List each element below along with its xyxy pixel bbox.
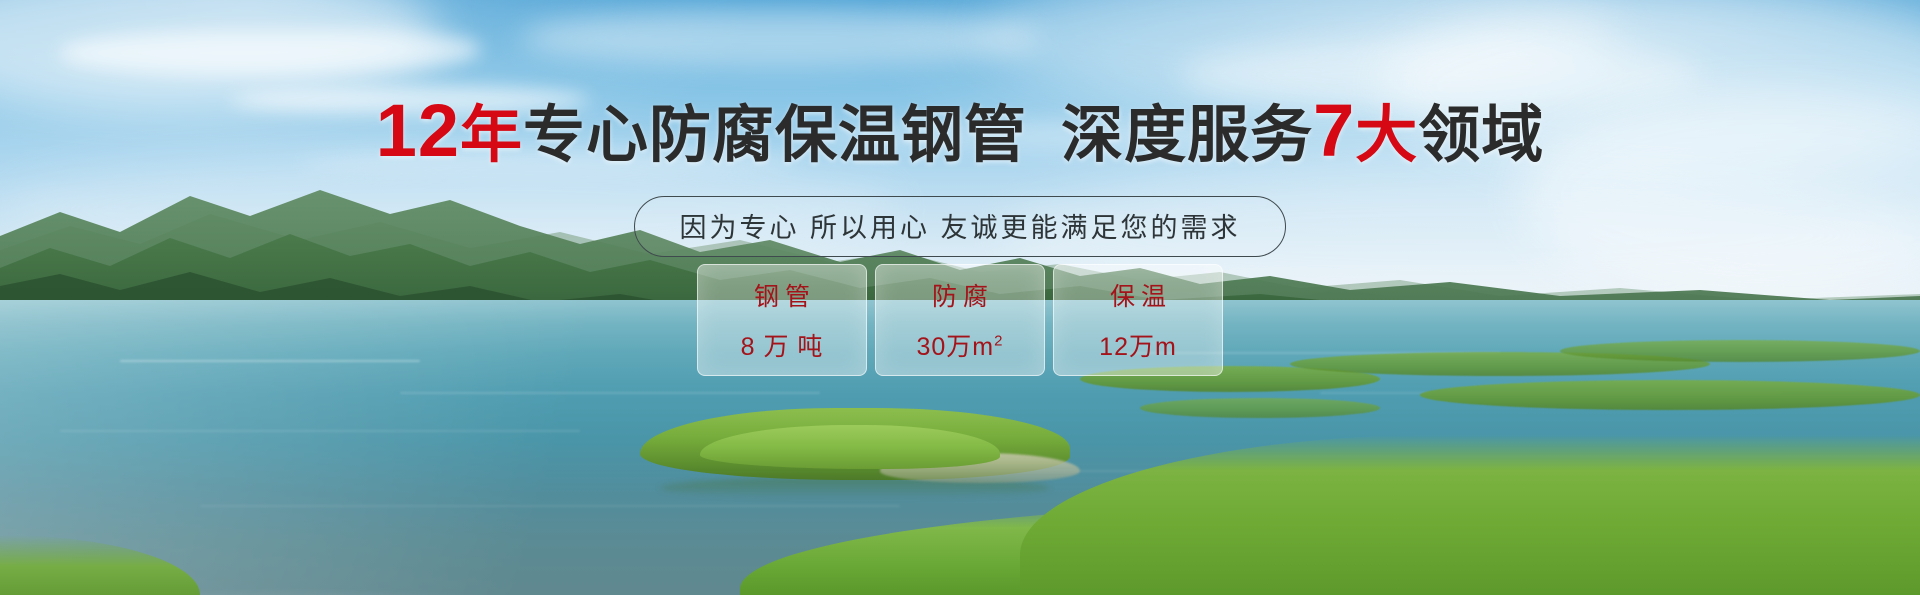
stat-card-label: 防腐 [926, 277, 994, 313]
stat-value-text: 8 万 吨 [741, 333, 824, 361]
headline-service-text: 深度服务 [1061, 101, 1313, 170]
headline-years-unit: 年 [460, 101, 523, 170]
subtitle-pill: 因为专心 所以用心 友诚更能满足您的需求 [634, 196, 1285, 257]
stat-card-insulation: 保温 12万m [1053, 264, 1223, 376]
stat-card-value: 8 万 吨 [741, 327, 824, 363]
stat-value-text: 30万m [917, 333, 995, 361]
headline-main-text: 专心防腐保温钢管 [523, 101, 1027, 170]
subtitle-container: 因为专心 所以用心 友诚更能满足您的需求 [0, 196, 1920, 257]
headline-fields-unit: 大 [1355, 101, 1418, 170]
stat-card-steel-pipe: 钢管 8 万 吨 [697, 264, 867, 376]
headline-fields-text: 领域 [1418, 101, 1544, 170]
page-title: 12年专心防腐保温钢管深度服务7大领域 [0, 84, 1920, 174]
headline-years-number: 12 [376, 89, 460, 172]
stat-card-anticorrosion: 防腐 30万m2 [875, 264, 1045, 376]
banner-content: 12年专心防腐保温钢管深度服务7大领域 因为专心 所以用心 友诚更能满足您的需求… [0, 0, 1920, 595]
stat-value-text: 12万m [1099, 333, 1177, 361]
stat-card-value: 12万m [1099, 327, 1177, 363]
stat-value-superscript: 2 [994, 333, 1003, 350]
stats-card-row: 钢管 8 万 吨 防腐 30万m2 保温 12万m [0, 264, 1920, 376]
headline-fields-number: 7 [1313, 89, 1355, 172]
stat-card-value: 30万m2 [917, 327, 1004, 363]
hero-banner: 12年专心防腐保温钢管深度服务7大领域 因为专心 所以用心 友诚更能满足您的需求… [0, 0, 1920, 595]
stat-card-label: 保温 [1104, 277, 1172, 313]
stat-card-label: 钢管 [748, 277, 816, 313]
